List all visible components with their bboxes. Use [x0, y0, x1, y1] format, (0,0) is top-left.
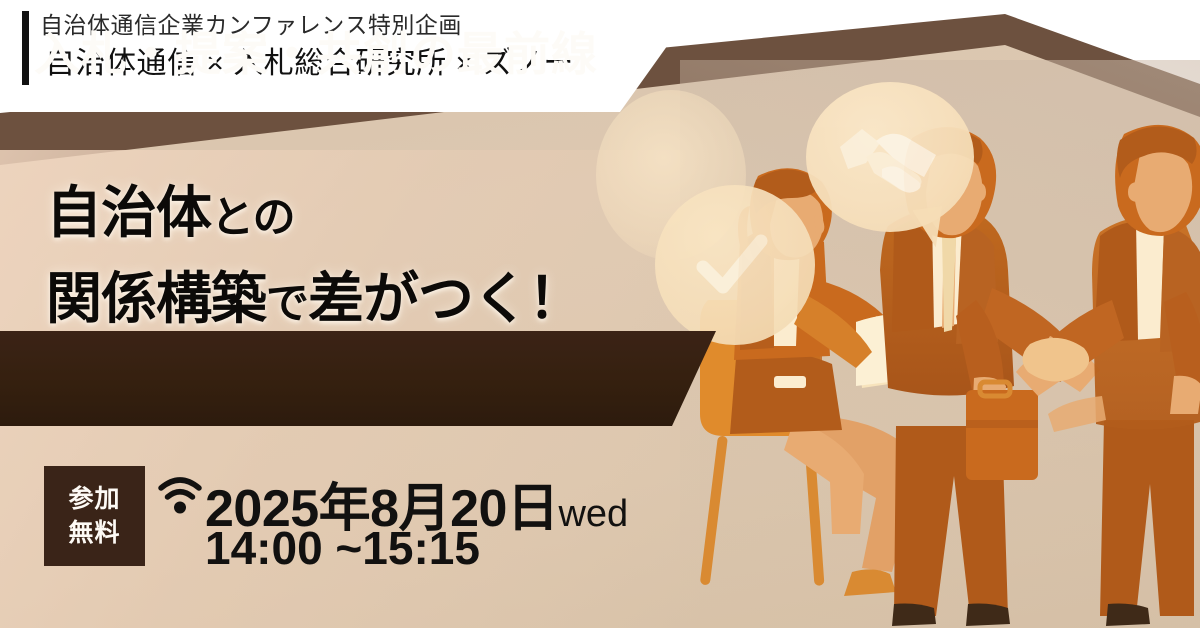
figure-standing-partner	[1016, 125, 1200, 626]
header-accent-bar	[22, 11, 29, 85]
headline-line-1: 自治体との	[46, 182, 583, 259]
headline-line2-emphasis-2: 差がつく！	[308, 267, 583, 330]
check-icon	[693, 227, 771, 305]
check-circle	[655, 185, 815, 345]
badge-line-2: 無料	[68, 516, 120, 550]
main-headline: 自治体との 関係構築で差がつく！	[46, 182, 583, 346]
event-banner: 自治体通信企業カンファレンス特別企画 自治体通信 × 入札総合研究所 × ズノー…	[0, 0, 1200, 628]
badge-line-1: 参加	[68, 482, 120, 516]
subtitle-banner	[0, 331, 716, 426]
headline-line1-emphasis: 自治体	[46, 181, 211, 244]
handshake-icon	[836, 117, 944, 197]
handshake-speech-bubble	[806, 82, 974, 232]
headline-line1-tail: との	[211, 194, 295, 242]
free-entry-badge: 参加 無料	[44, 466, 145, 566]
wifi-icon	[157, 474, 203, 516]
event-time: 14:00 ~15:15	[205, 521, 480, 575]
event-day-of-week: wed	[558, 493, 628, 535]
subtitle-text: 入札・提案・共創の最前線	[34, 18, 598, 84]
headline-line2-particle: で	[266, 280, 308, 328]
speech-bubble-tail	[912, 206, 947, 250]
briefcase	[966, 382, 1038, 480]
headline-line2-emphasis: 関係構築	[46, 267, 266, 330]
